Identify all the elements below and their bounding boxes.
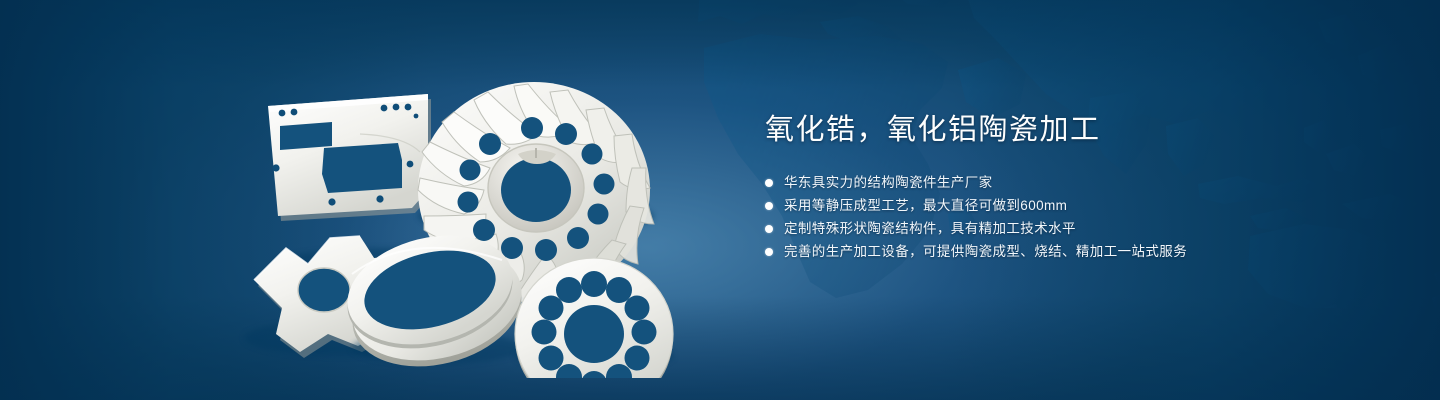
feature-text: 华东具实力的结构陶瓷件生产厂家 bbox=[784, 172, 993, 194]
bullet-dot-icon bbox=[765, 225, 773, 233]
list-item: 华东具实力的结构陶瓷件生产厂家 bbox=[765, 172, 1325, 194]
bullet-dot-icon bbox=[765, 248, 773, 256]
ceramic-products-image bbox=[232, 42, 702, 378]
bullet-dot-icon bbox=[765, 179, 773, 187]
list-item: 定制特殊形状陶瓷结构件，具有精加工技术水平 bbox=[765, 218, 1325, 240]
bullet-dot-icon bbox=[765, 202, 773, 210]
list-item: 采用等静压成型工艺，最大直径可做到600mm bbox=[765, 195, 1325, 217]
feature-list: 华东具实力的结构陶瓷件生产厂家 采用等静压成型工艺，最大直径可做到600mm 定… bbox=[765, 172, 1325, 263]
banner-copy: 氧化锆，氧化铝陶瓷加工 华东具实力的结构陶瓷件生产厂家 采用等静压成型工艺，最大… bbox=[765, 110, 1325, 264]
banner-headline: 氧化锆，氧化铝陶瓷加工 bbox=[765, 110, 1325, 150]
feature-text: 定制特殊形状陶瓷结构件，具有精加工技术水平 bbox=[784, 218, 1076, 240]
feature-text: 完善的生产加工设备，可提供陶瓷成型、烧结、精加工一站式服务 bbox=[784, 241, 1187, 263]
promo-banner: 氧化锆，氧化铝陶瓷加工 华东具实力的结构陶瓷件生产厂家 采用等静压成型工艺，最大… bbox=[0, 0, 1440, 400]
list-item: 完善的生产加工设备，可提供陶瓷成型、烧结、精加工一站式服务 bbox=[765, 241, 1325, 263]
feature-text: 采用等静压成型工艺，最大直径可做到600mm bbox=[784, 195, 1067, 217]
